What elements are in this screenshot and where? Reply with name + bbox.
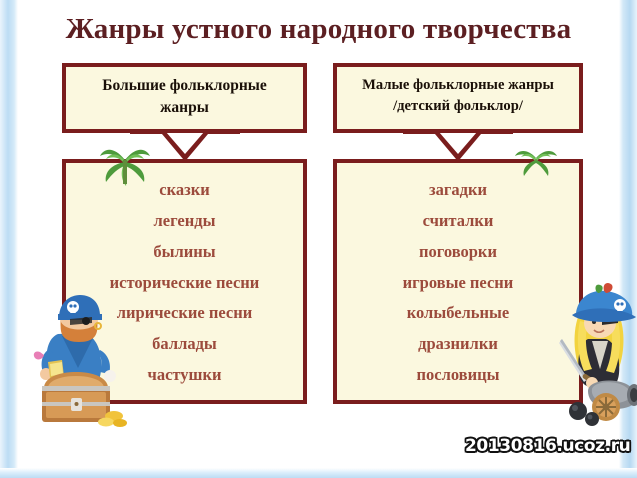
list-item: пословицы [345,360,571,391]
list-item: дразнилки [345,329,571,360]
list-item: считалки [345,206,571,237]
arrow-gap-large-genres [62,133,307,159]
header-line-2: /детский фольклор/ [343,96,573,117]
list-box-large-genres: сказки легенды былины исторические песни… [62,159,307,404]
slide-canvas: Жанры устного народного творчества Больш… [18,0,619,468]
header-line-1: Большие фольклорные [72,75,297,97]
down-arrow-icon [126,128,244,160]
list-item: загадки [345,175,571,206]
header-box-large-genres: Большие фольклорные жанры [62,63,307,133]
arrow-gap-small-genres [333,133,583,159]
list-item: лирические песни [74,298,295,329]
watermark: 20130816.ucoz.ru [465,436,630,456]
down-arrow-icon [399,128,517,160]
header-line-1: Малые фольклорные жанры [343,75,573,96]
slide-stage: Жанры устного народного творчества Больш… [0,0,637,478]
list-item: легенды [74,206,295,237]
header-line-2: жанры [72,97,297,119]
list-item: частушки [74,360,295,391]
list-item: колыбельные [345,298,571,329]
list-item: поговорки [345,237,571,268]
page-title: Жанры устного народного творчества [18,13,619,46]
list-item: былины [74,237,295,268]
column-small-genres: Малые фольклорные жанры /детский фолькло… [333,63,583,404]
list-box-small-genres: загадки считалки поговорки игровые песни… [333,159,583,404]
list-item: баллады [74,329,295,360]
list-item: исторические песни [74,268,295,299]
list-item: игровые песни [345,268,571,299]
column-large-genres: Большие фольклорные жанры сказки легенды… [62,63,307,404]
list-item: сказки [74,175,295,206]
header-box-small-genres: Малые фольклорные жанры /детский фолькло… [333,63,583,133]
